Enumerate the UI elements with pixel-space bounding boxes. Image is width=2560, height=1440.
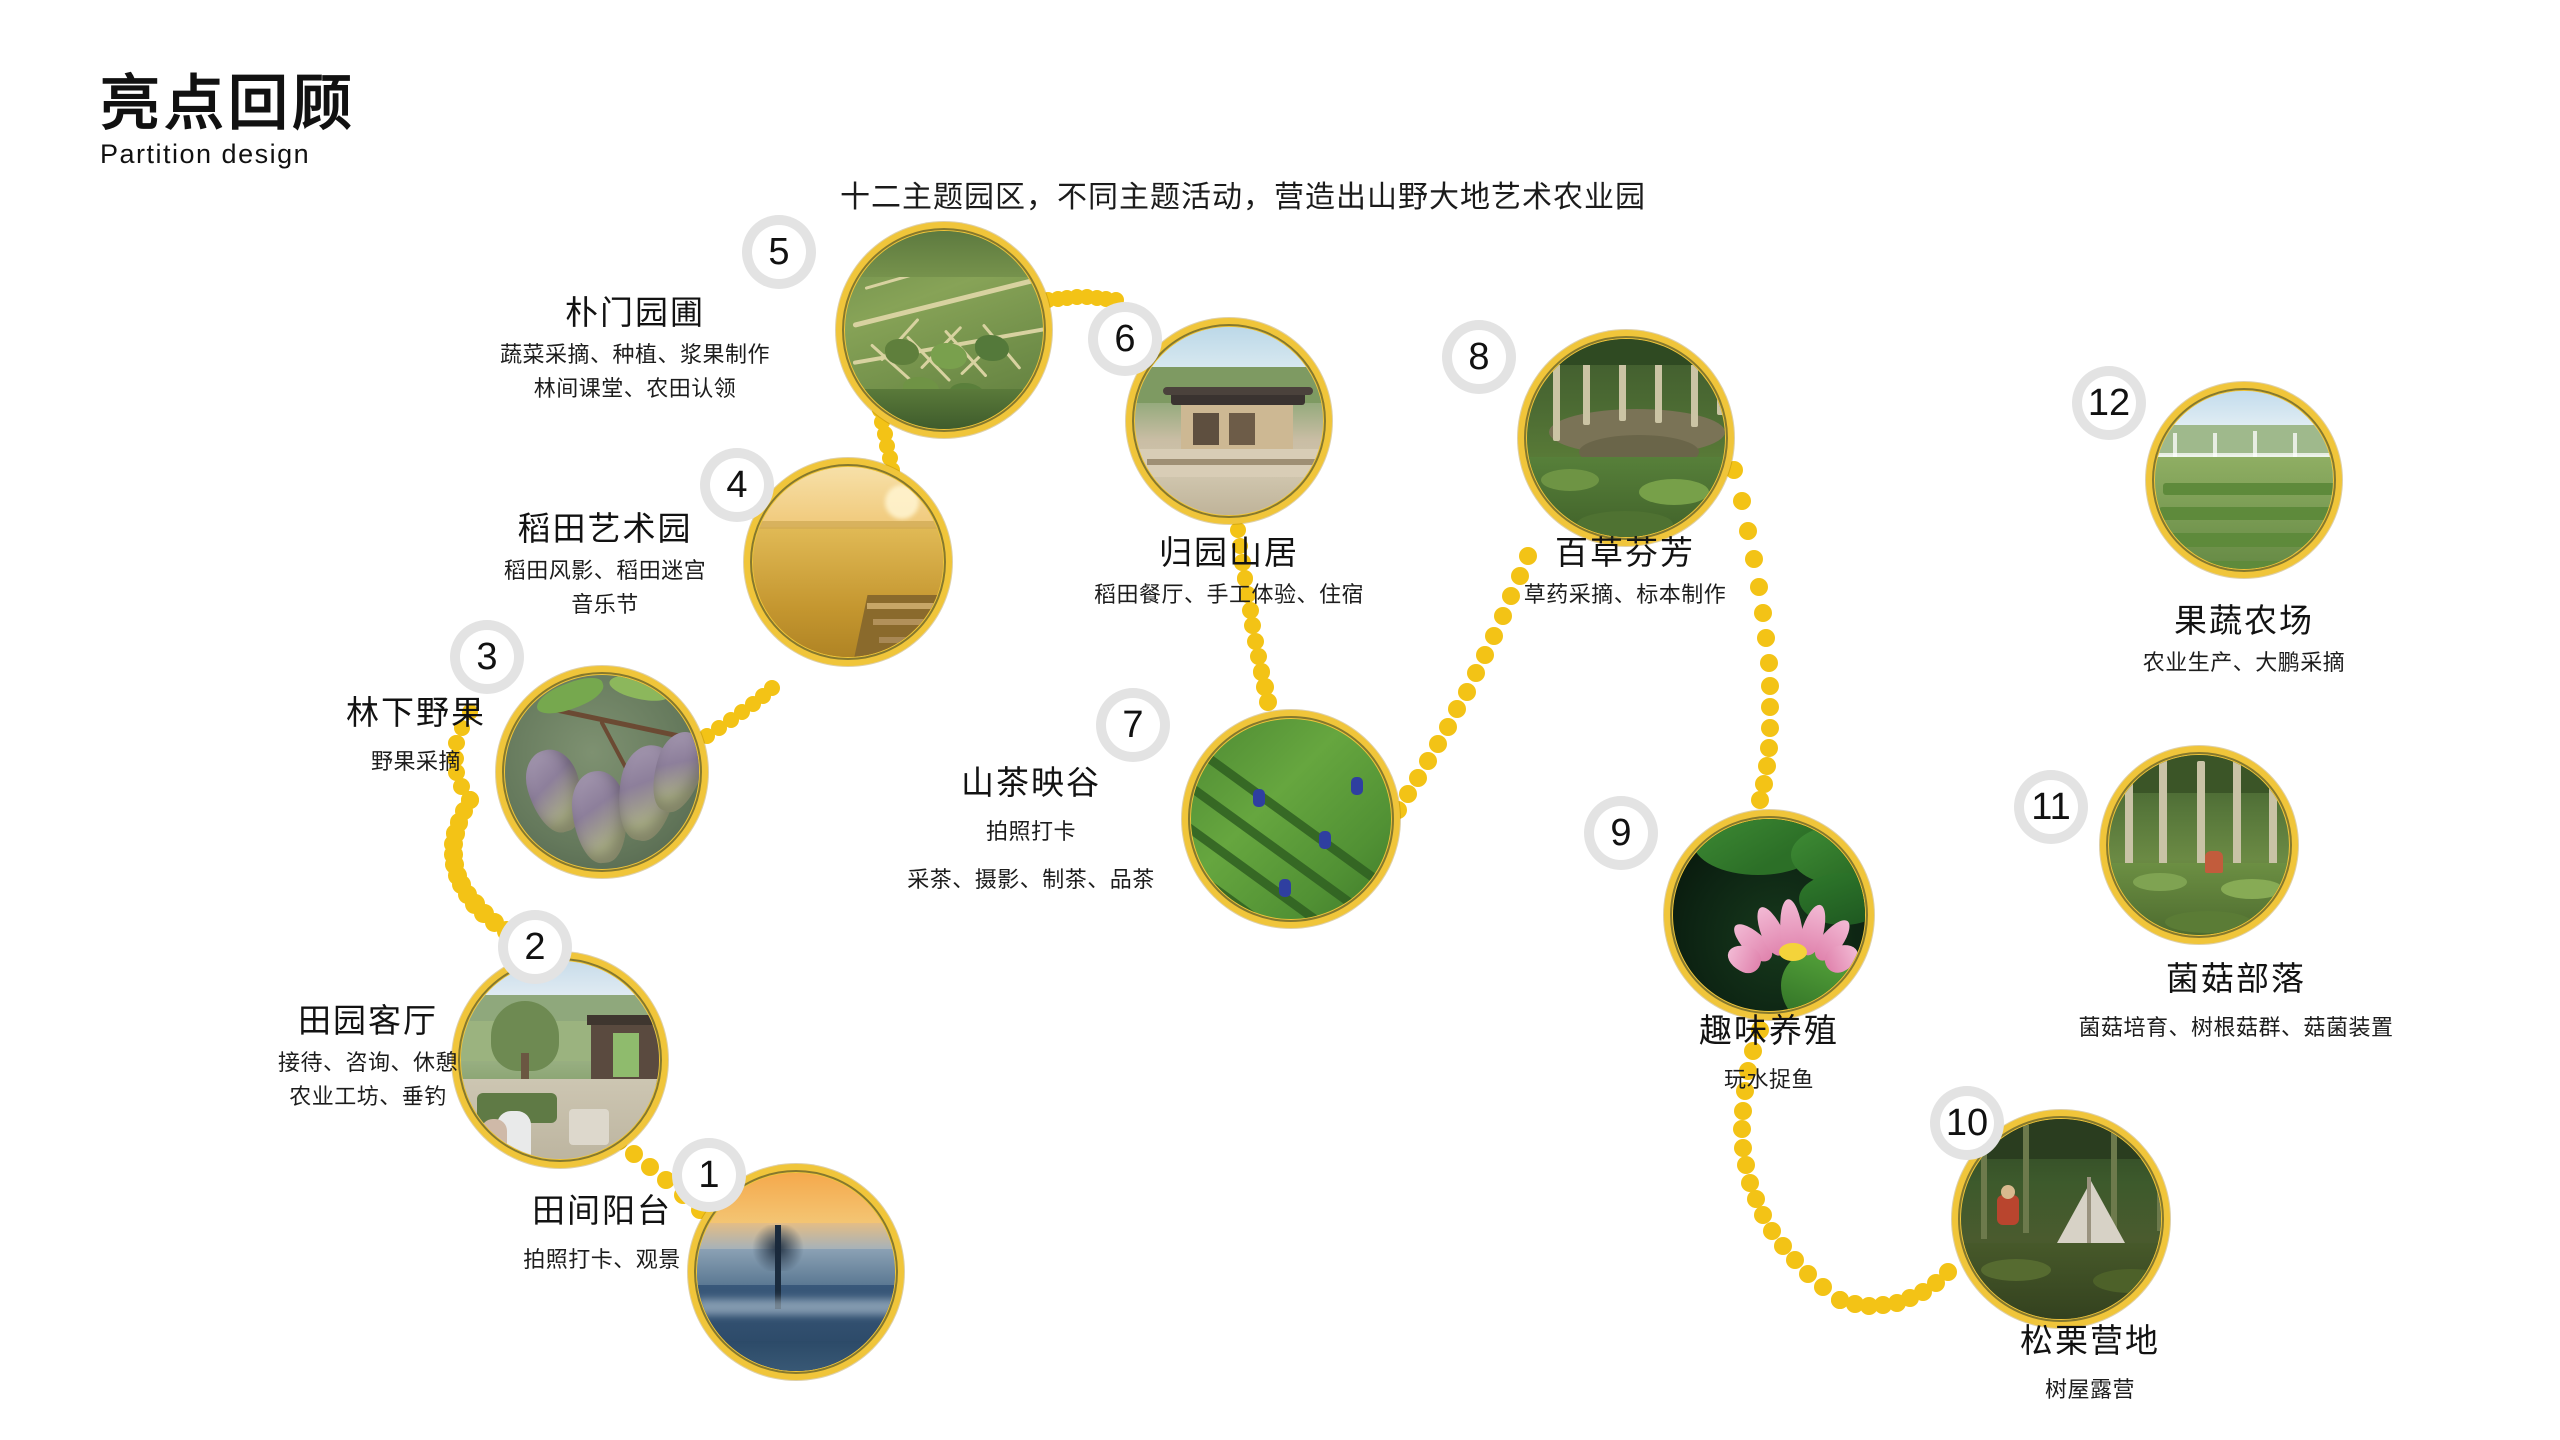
zone-number-5: 5: [768, 233, 789, 271]
zone-photo-7[interactable]: [1182, 710, 1400, 928]
zone-caption-7: 山茶映谷 拍照打卡 采茶、摄影、制茶、品茶: [866, 762, 1196, 897]
zone-title-10: 松栗营地: [1920, 1320, 2260, 1361]
zone-desc-12-line1: 农业生产、大鹏采摘: [2074, 646, 2414, 680]
zone-title-6: 归园山居: [1059, 532, 1399, 573]
zone-caption-12: 果蔬农场 农业生产、大鹏采摘: [2074, 600, 2414, 680]
zone-badge-3[interactable]: 3: [450, 620, 524, 694]
zone-badge-4[interactable]: 4: [700, 448, 774, 522]
zone-number-2: 2: [524, 928, 545, 966]
zone-badge-2[interactable]: 2: [498, 910, 572, 984]
zone-caption-10: 松栗营地 树屋露营: [1920, 1320, 2260, 1407]
zone-badge-7[interactable]: 7: [1096, 688, 1170, 762]
golden-rice-field-sunset-image: [753, 467, 943, 657]
zone-photo-4[interactable]: [744, 458, 952, 666]
zone-badge-1[interactable]: 1: [672, 1138, 746, 1212]
zone-number-12: 12: [2088, 384, 2130, 422]
zone-desc-3-line1: 野果采摘: [266, 745, 566, 779]
zone-desc-6-line1: 稻田餐厅、手工体验、住宿: [1059, 578, 1399, 612]
zone-photo-12[interactable]: [2146, 382, 2342, 578]
zone-desc-9-line1: 玩水捉鱼: [1604, 1063, 1934, 1097]
zone-number-3: 3: [476, 638, 497, 676]
aerial-leaf-pattern-garden-image: [845, 231, 1043, 429]
zone-photo-8[interactable]: [1518, 330, 1734, 546]
zone-badge-9[interactable]: 9: [1584, 796, 1658, 870]
zone-badge-12[interactable]: 12: [2072, 366, 2146, 440]
zone-desc-5-line2: 林间课堂、农田认领: [470, 372, 800, 406]
zone-desc-1-line1: 拍照打卡、观景: [452, 1243, 752, 1277]
zone-photo-9[interactable]: [1664, 810, 1874, 1020]
zone-photo-11[interactable]: [2100, 746, 2298, 944]
tea-terrace-rows-pickers-image: [1191, 719, 1391, 919]
zone-number-11: 11: [2031, 788, 2070, 826]
zone-caption-6: 归园山居 稻田餐厅、手工体验、住宿: [1059, 532, 1399, 612]
lotus-flower-pond-image: [1673, 819, 1865, 1011]
zone-title-8: 百草芬芳: [1455, 532, 1795, 573]
zone-photo-5[interactable]: [836, 222, 1052, 438]
zone-number-6: 6: [1114, 320, 1135, 358]
title-chinese: 亮点回顾: [100, 72, 356, 135]
zone-caption-3: 林下野果 野果采摘: [266, 692, 566, 779]
zone-desc-2-line2: 农业工坊、垂钓: [208, 1080, 528, 1114]
zone-badge-8[interactable]: 8: [1442, 320, 1516, 394]
zone-title-11: 菌菇部落: [2046, 958, 2426, 999]
zone-caption-4: 稻田艺术园 稻田风影、稻田迷宫 音乐节: [440, 508, 770, 622]
zone-desc-8-line1: 草药采摘、标本制作: [1455, 578, 1795, 612]
zone-desc-11-line1: 菌菇培育、树根菇群、菇菌装置: [2046, 1011, 2426, 1045]
zone-desc-4-line2: 音乐节: [440, 588, 770, 622]
infographic-canvas: 亮点回顾 Partition design 十二主题园区，不同主题活动，营造出山…: [0, 0, 2560, 1440]
zone-number-4: 4: [726, 466, 747, 504]
zone-badge-6[interactable]: 6: [1088, 302, 1162, 376]
zone-desc-4-line1: 稻田风影、稻田迷宫: [440, 554, 770, 588]
greenhouse-vegetable-farm-image: [2155, 391, 2333, 569]
page-title: 亮点回顾 Partition design: [100, 72, 356, 170]
zone-caption-5: 朴门园圃 蔬菜采摘、种植、浆果制作 林间课堂、农田认领: [470, 292, 800, 406]
title-english: Partition design: [100, 139, 356, 170]
zone-desc-10-line1: 树屋露营: [1920, 1373, 2260, 1407]
mushroom-woodland-image: [2109, 755, 2289, 935]
wooden-farmhouse-lodge-image: [1135, 327, 1323, 515]
zone-caption-9: 趣味养殖 玩水捉鱼: [1604, 1010, 1934, 1097]
zone-title-5: 朴门园圃: [470, 292, 800, 333]
zone-number-10: 10: [1946, 1104, 1988, 1142]
herb-forest-path-image: [1527, 339, 1725, 537]
zone-title-2: 田园客厅: [208, 1000, 528, 1041]
zone-number-7: 7: [1122, 706, 1143, 744]
zone-title-7: 山茶映谷: [866, 762, 1196, 803]
zone-title-9: 趣味养殖: [1604, 1010, 1934, 1051]
zone-title-12: 果蔬农场: [2074, 600, 2414, 641]
subtitle: 十二主题园区，不同主题活动，营造出山野大地艺术农业园: [840, 172, 1646, 216]
zone-number-9: 9: [1610, 814, 1631, 852]
zone-desc-7-line2: 采茶、摄影、制茶、品茶: [866, 863, 1196, 897]
zone-badge-5[interactable]: 5: [742, 215, 816, 289]
zone-number-1: 1: [698, 1156, 719, 1194]
zone-badge-11[interactable]: 11: [2014, 770, 2088, 844]
zone-caption-11: 菌菇部落 菌菇培育、树根菇群、菇菌装置: [2046, 958, 2426, 1045]
zone-desc-5-line1: 蔬菜采摘、种植、浆果制作: [470, 338, 800, 372]
zone-desc-2-line1: 接待、咨询、休憩: [208, 1046, 528, 1080]
zone-desc-7-line1: 拍照打卡: [866, 815, 1196, 849]
zone-badge-10[interactable]: 10: [1930, 1086, 2004, 1160]
zone-number-8: 8: [1468, 338, 1489, 376]
zone-title-3: 林下野果: [266, 692, 566, 733]
zone-caption-8: 百草芬芳 草药采摘、标本制作: [1455, 532, 1795, 612]
zone-caption-2: 田园客厅 接待、咨询、休憩 农业工坊、垂钓: [208, 1000, 528, 1114]
